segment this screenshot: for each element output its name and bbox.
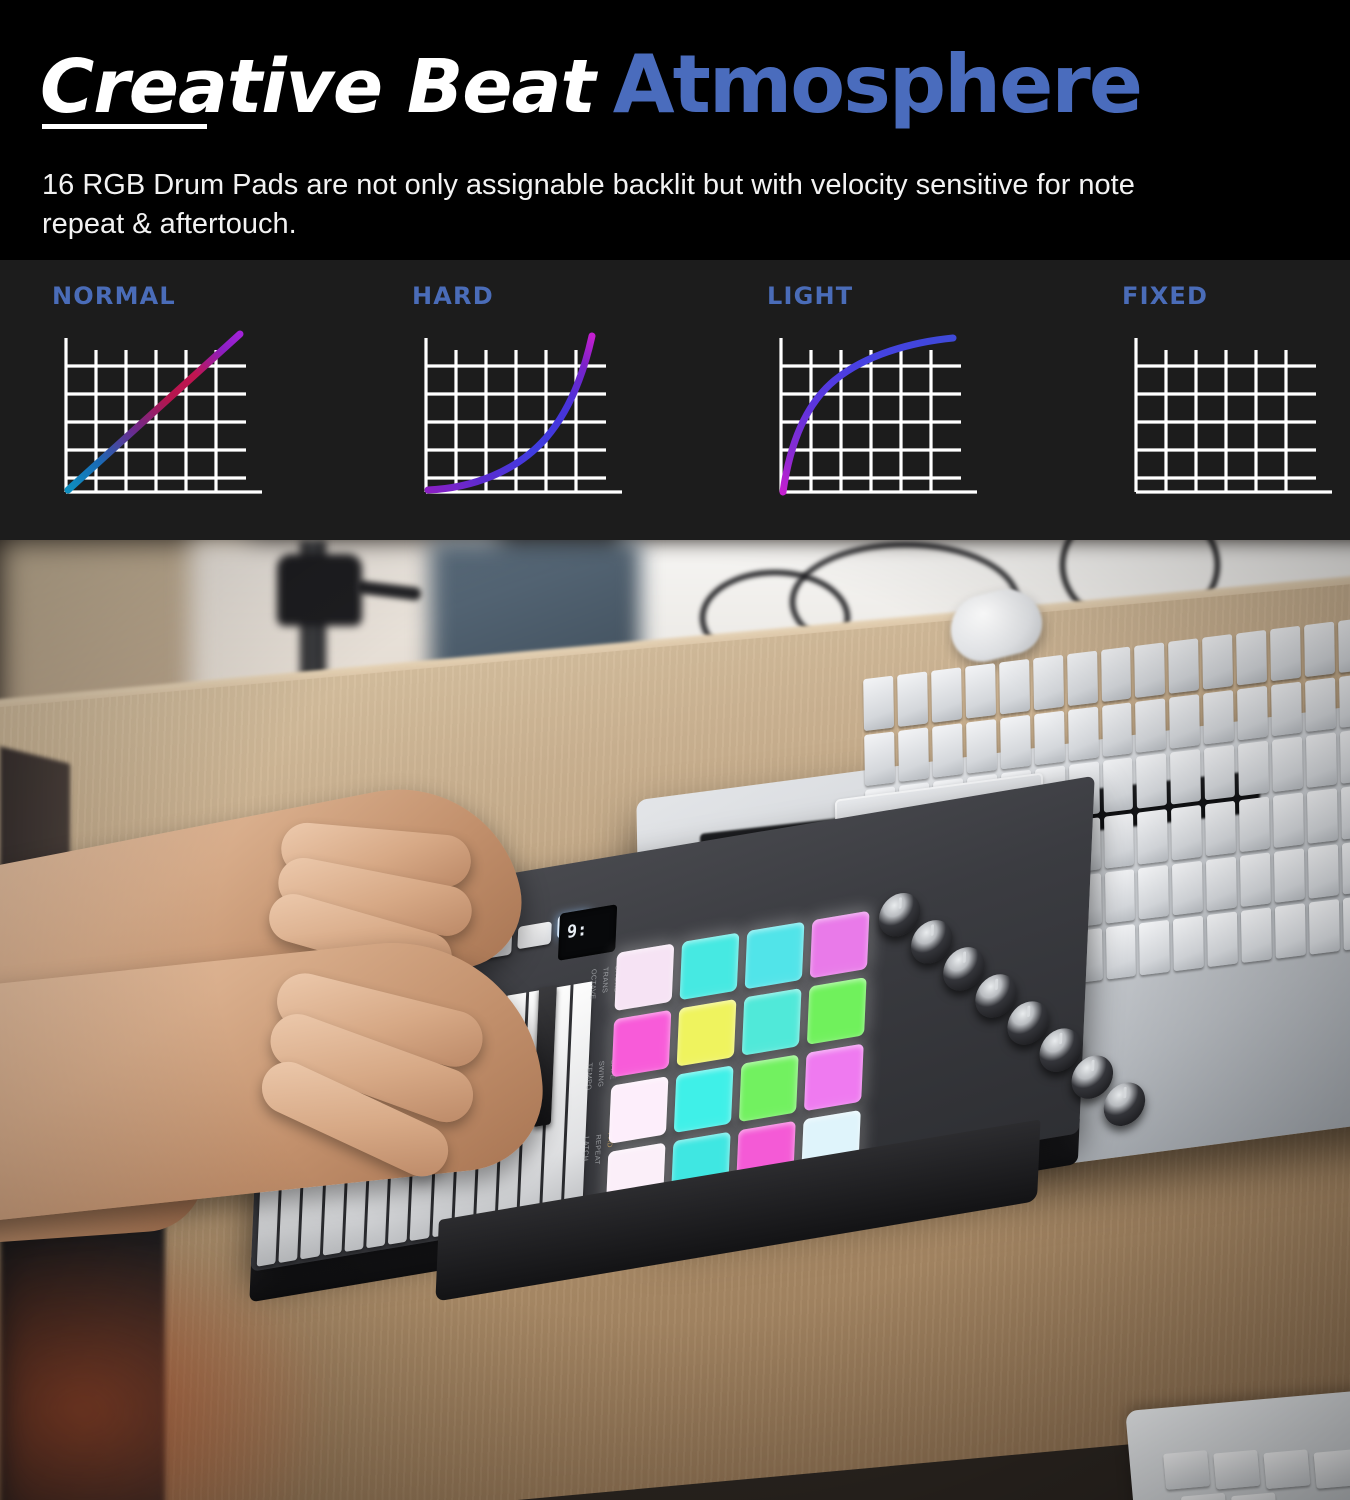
chart-fixed: FIXED <box>1122 260 1350 540</box>
laptop-key <box>1138 865 1169 920</box>
laptop-key <box>1340 728 1350 783</box>
laptop-key <box>1170 749 1201 804</box>
laptop-key <box>1169 638 1200 693</box>
drum-pad-2[interactable] <box>680 932 740 1000</box>
secondary-key <box>1163 1450 1210 1490</box>
laptop-key <box>1307 788 1338 843</box>
laptop-key <box>1135 642 1166 697</box>
drum-pad-5[interactable] <box>612 1010 672 1078</box>
laptop-key <box>1067 651 1098 706</box>
laptop-key <box>1274 848 1305 903</box>
laptop-key <box>1104 813 1135 868</box>
laptop-key <box>1203 690 1234 745</box>
laptop-key <box>1241 908 1272 963</box>
laptop-key <box>1103 758 1134 813</box>
title-underline <box>42 124 207 129</box>
page-title: Creative BeatAtmosphere <box>40 38 1141 131</box>
secondary-key <box>1231 1492 1277 1500</box>
laptop-key <box>1101 646 1132 701</box>
laptop-key <box>1237 685 1268 740</box>
silkscreen-label-10: REPEAT <box>593 1134 601 1166</box>
laptop-key <box>1202 634 1233 689</box>
chart-hard-plot <box>412 320 712 520</box>
laptop-key <box>931 667 962 722</box>
drum-pad-7[interactable] <box>742 988 802 1056</box>
chart-normal-plot <box>52 320 352 520</box>
title-accent: Atmosphere <box>613 38 1141 131</box>
drum-pad-4[interactable] <box>810 911 870 979</box>
laptop-key <box>1238 741 1269 796</box>
laptop-key <box>999 659 1030 714</box>
laptop-key <box>898 727 929 782</box>
silkscreen-label-9: LATCH <box>581 1136 589 1162</box>
laptop-key <box>1137 809 1168 864</box>
laptop-key <box>1240 852 1271 907</box>
laptop-key <box>1136 698 1167 753</box>
laptop-key <box>1207 912 1238 967</box>
product-photo: OCTAVE TRANS CHORD ARP TEMPO SWING GATE … <box>0 540 1350 1500</box>
silkscreen-label-6: SWING <box>596 1060 604 1087</box>
laptop-key <box>966 719 997 774</box>
laptop-key <box>1305 677 1336 732</box>
laptop-key <box>1275 903 1306 958</box>
laptop-key <box>1270 626 1301 681</box>
laptop-key <box>932 723 963 778</box>
laptop-key <box>864 731 895 786</box>
silkscreen-label-2: TRANS <box>601 967 609 994</box>
laptop-key <box>1339 673 1350 728</box>
drum-pad-1[interactable] <box>614 943 674 1011</box>
laptop-key <box>1206 856 1237 911</box>
laptop-key <box>1239 797 1270 852</box>
silkscreen-label-1: OCTAVE <box>589 968 597 1000</box>
secondary-key <box>1181 1493 1227 1500</box>
secondary-key <box>1263 1449 1310 1489</box>
drum-pad-3[interactable] <box>745 922 805 990</box>
drum-pad-6[interactable] <box>677 999 737 1067</box>
laptop-key <box>1139 920 1170 975</box>
laptop-key <box>1204 745 1235 800</box>
laptop-key <box>1272 737 1303 792</box>
drum-pad-9[interactable] <box>609 1076 669 1144</box>
chart-light-label: LIGHT <box>767 282 853 310</box>
laptop-key <box>1205 801 1236 856</box>
laptop-key <box>1033 655 1064 710</box>
laptop-key <box>1102 702 1133 757</box>
velocity-curves-section: NORMAL HAR <box>0 260 1350 540</box>
laptop-key <box>1304 622 1335 677</box>
laptop-key <box>1308 844 1339 899</box>
laptop-key <box>1273 792 1304 847</box>
chart-hard: HARD <box>412 260 712 540</box>
laptop-key <box>1342 840 1350 895</box>
laptop-key <box>1171 805 1202 860</box>
laptop-key <box>1105 869 1136 924</box>
laptop-key <box>1271 681 1302 736</box>
chart-hard-label: HARD <box>412 282 494 310</box>
drum-pad-8[interactable] <box>807 977 867 1045</box>
header-banner: Creative BeatAtmosphere 16 RGB Drum Pads… <box>0 0 1350 260</box>
midi-display-screen: 9: <box>558 904 617 961</box>
drum-pad-11[interactable] <box>739 1054 799 1122</box>
laptop-key <box>965 663 996 718</box>
laptop-key <box>1172 860 1203 915</box>
laptop-key <box>1343 895 1350 950</box>
laptop-key <box>1341 784 1350 839</box>
laptop-key <box>1034 710 1065 765</box>
laptop-key <box>1068 706 1099 761</box>
chart-light-plot <box>767 320 1067 520</box>
secondary-key <box>1213 1450 1260 1490</box>
laptop-key <box>1173 916 1204 971</box>
laptop-key <box>1000 715 1031 770</box>
laptop-key <box>1338 617 1350 672</box>
microphone-head-icon <box>277 554 362 626</box>
laptop-key <box>863 676 894 731</box>
chart-fixed-plot <box>1122 320 1350 520</box>
laptop-key <box>1306 733 1337 788</box>
laptop-key <box>1169 694 1200 749</box>
subtitle-text: 16 RGB Drum Pads are not only assignable… <box>42 166 1162 243</box>
laptop-key <box>1137 753 1168 808</box>
chart-light: LIGHT <box>767 260 1067 540</box>
chart-normal-label: NORMAL <box>52 282 176 310</box>
laptop-key <box>897 671 928 726</box>
chart-fixed-label: FIXED <box>1122 282 1208 310</box>
drum-pad-12[interactable] <box>804 1043 864 1111</box>
secondary-key <box>1314 1449 1350 1489</box>
laptop-key <box>1309 899 1340 954</box>
silkscreen-label-5: TEMPO <box>585 1062 593 1091</box>
title-primary: Creative Beat <box>40 44 595 130</box>
laptop-key <box>1236 630 1267 685</box>
chart-normal: NORMAL <box>52 260 352 540</box>
midi-display-text: 9: <box>567 919 588 943</box>
laptop-key <box>1106 924 1137 979</box>
drum-pad-10[interactable] <box>674 1065 734 1133</box>
